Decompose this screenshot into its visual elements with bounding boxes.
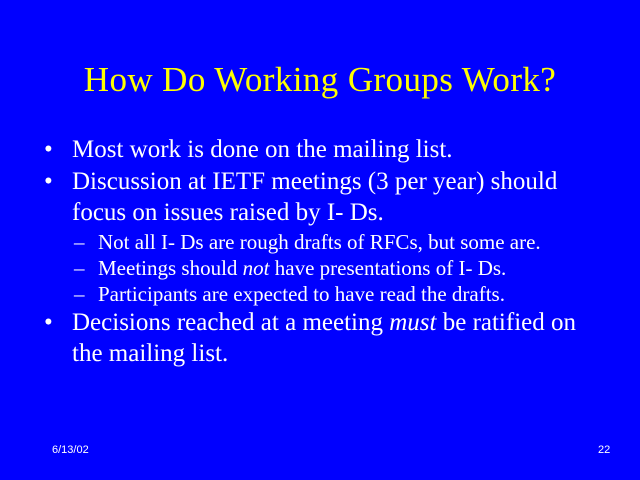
sub-bullet-item-1: – Not all I- Ds are rough drafts of RFCs… [0,229,640,255]
bullet-item-1: • Most work is done on the mailing list. [0,134,640,165]
sub-bullet-item-2: – Meetings should not have presentations… [0,255,640,281]
slide-title: How Do Working Groups Work? [0,60,640,100]
sub-bullet-text: Meetings should not have presentations o… [98,255,595,281]
bullet-text: Most work is done on the mailing list. [72,134,600,165]
bullet-marker-icon: • [44,166,64,197]
bullet-text: Decisions reached at a meeting must be r… [72,307,600,369]
presentation-slide: How Do Working Groups Work? • Most work … [0,0,640,480]
bullet-item-3: • Decisions reached at a meeting must be… [0,307,640,369]
footer-date: 6/13/02 [52,443,89,457]
bullet-text: Discussion at IETF meetings (3 per year)… [72,166,600,228]
sub-bullet-text-suffix: have presentations of I- Ds. [270,256,507,280]
dash-marker-icon: – [74,281,94,307]
sub-bullet-text: Participants are expected to have read t… [98,281,595,307]
bullet-marker-icon: • [44,307,64,338]
footer-page-number: 22 [598,443,610,457]
bullet-marker-icon: • [44,134,64,165]
sub-bullet-text: Not all I- Ds are rough drafts of RFCs, … [98,229,595,255]
sub-bullet-item-3: – Participants are expected to have read… [0,281,640,307]
sub-bullet-text-emphasis: not [243,256,270,280]
dash-marker-icon: – [74,229,94,255]
bullet-item-2: • Discussion at IETF meetings (3 per yea… [0,166,640,228]
bullet-text-emphasis: must [389,309,436,336]
bullet-text-prefix: Decisions reached at a meeting [72,309,389,336]
slide-body-list: • Most work is done on the mailing list.… [0,134,640,370]
sub-bullet-text-prefix: Meetings should [98,256,243,280]
dash-marker-icon: – [74,255,94,281]
